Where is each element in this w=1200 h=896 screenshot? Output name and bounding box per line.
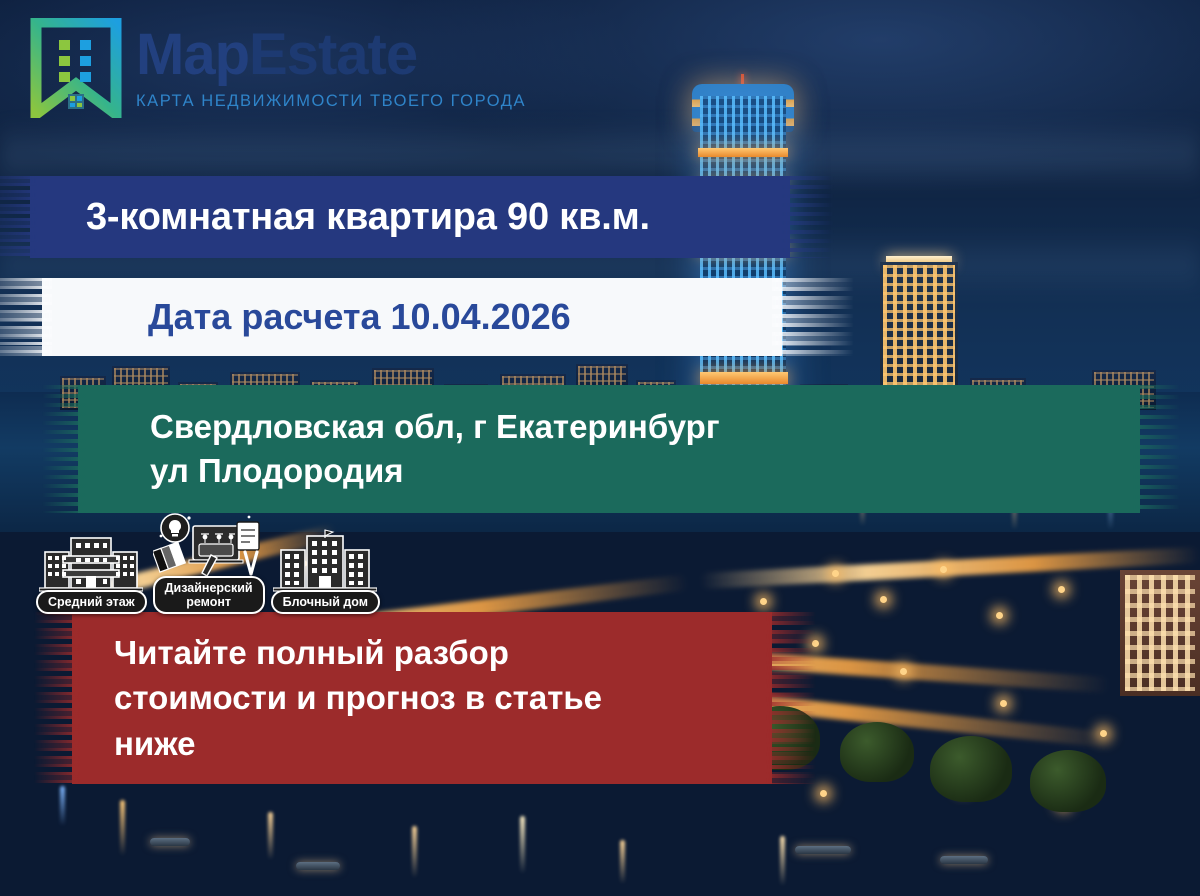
cta-line-2: стоимости и прогноз в статье	[114, 675, 602, 721]
tower-light-band	[700, 372, 788, 384]
brush-edge-right	[764, 612, 816, 784]
brush-edge-left	[0, 176, 38, 258]
feature-badge-label: Дизайнерский ремонт	[153, 576, 265, 614]
call-to-action-banner[interactable]: Читайте полный разбор стоимости и прогно…	[72, 612, 772, 784]
mid-rise-building-icon	[39, 526, 143, 596]
calculation-date-text: Дата расчета 10.04.2026	[148, 296, 571, 338]
address-region-city: Свердловская обл, г Екатеринбург	[150, 405, 720, 449]
interior-design-tools-icon	[153, 512, 265, 582]
block-apartment-building-icon	[273, 526, 377, 596]
address-street: ул Плодородия	[150, 449, 404, 493]
real-estate-promo-poster: MapEstate КАРТА НЕДВИЖИМОСТИ ТВОЕГО ГОРО…	[0, 0, 1200, 896]
calculation-date-banner: Дата расчета 10.04.2026	[42, 278, 782, 356]
river-boat	[150, 838, 190, 846]
property-feature-badges: Средний этаж	[36, 512, 380, 614]
address-banner: Свердловская обл, г Екатеринбург ул Плод…	[78, 385, 1140, 513]
brand-text: MapEstate КАРТА НЕДВИЖИМОСТИ ТВОЕГО ГОРО…	[136, 26, 526, 110]
bookmark-building-logo-icon	[30, 18, 122, 118]
brand-name-estate: Estate	[249, 22, 417, 87]
cta-line-1: Читайте полный разбор	[114, 630, 509, 676]
brush-edge-left	[34, 612, 80, 784]
brand-tagline: КАРТА НЕДВИЖИМОСТИ ТВОЕГО ГОРОДА	[136, 93, 526, 110]
brush-edge-left	[0, 278, 52, 356]
brand-name: MapEstate	[136, 26, 526, 84]
cta-line-3: ниже	[114, 721, 196, 767]
riverside-building	[1120, 570, 1200, 696]
river-boat	[296, 862, 340, 870]
brush-edge-right	[772, 278, 854, 356]
brush-edge-left	[42, 385, 86, 513]
brand-name-map: Map	[136, 22, 249, 87]
feature-badge-block-house[interactable]: Блочный дом	[271, 526, 380, 614]
feature-badge-label: Блочный дом	[271, 590, 380, 614]
brush-edge-right	[1132, 385, 1180, 513]
river-boat	[940, 856, 988, 864]
property-title-banner: 3-комнатная квартира 90 кв.м.	[30, 176, 790, 258]
brand-logo[interactable]: MapEstate КАРТА НЕДВИЖИМОСТИ ТВОЕГО ГОРО…	[30, 18, 526, 118]
river-boat	[795, 846, 851, 854]
feature-badge-mid-floor[interactable]: Средний этаж	[36, 526, 147, 614]
property-title-text: 3-комнатная квартира 90 кв.м.	[86, 196, 650, 239]
brush-edge-right	[782, 176, 834, 258]
feature-badge-label: Средний этаж	[36, 590, 147, 614]
tower-light-band	[698, 148, 788, 157]
feature-badge-designer-renovation[interactable]: Дизайнерский ремонт	[153, 512, 265, 614]
